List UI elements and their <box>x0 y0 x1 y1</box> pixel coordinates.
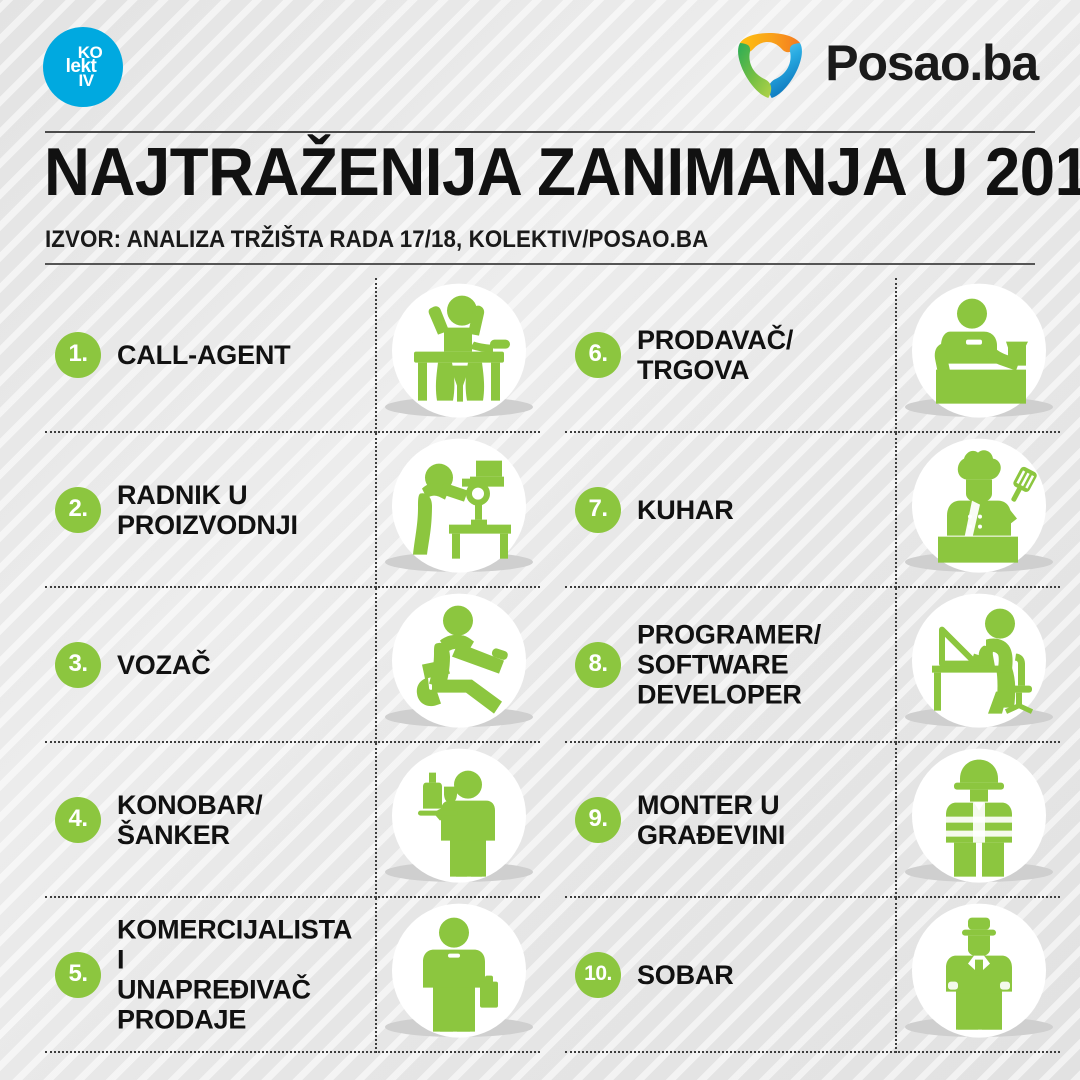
rank-badge: 2. <box>55 487 101 533</box>
occupation-icon-slot <box>895 433 1060 588</box>
occupation-icon-slot <box>895 588 1060 743</box>
occupation-label-line: PROIZVODNJI <box>117 510 337 540</box>
occupation-label-line: CALL-AGENT <box>117 339 337 369</box>
driver-icon <box>392 593 526 727</box>
occupation-label-line: ŠANKER <box>117 820 337 850</box>
occupation-icon-slot <box>375 433 540 588</box>
posao-wordmark: Posao.ba <box>825 34 1038 92</box>
occupation-icon-slot <box>375 898 540 1053</box>
occupation-label-line: TRGOVA <box>637 355 857 385</box>
occupation-label: KUHAR <box>637 494 857 524</box>
occupation-icon-slot <box>375 588 540 743</box>
occupation-icon-slot <box>375 743 540 898</box>
occupation-label-line: DEVELOPER <box>637 680 857 710</box>
kolektiv-logo: KO lekt IV <box>43 27 123 107</box>
rank-badge: 5. <box>55 952 101 998</box>
rank-badge: 10. <box>575 952 621 998</box>
occupation-label-line: VOZAČ <box>117 649 337 679</box>
occupation-icon-slot <box>375 278 540 433</box>
occupation-item[interactable]: 3.VOZAČ <box>45 588 540 743</box>
occupation-label: MONTER UGRAĐEVINI <box>637 789 857 849</box>
header: KO lekt IV <box>0 0 1080 120</box>
occupation-label-line: PRODAJE <box>117 1005 337 1035</box>
occupation-label-line: GRAĐEVINI <box>637 820 857 850</box>
occupation-icon-slot <box>895 278 1060 433</box>
occupation-icon-slot <box>895 898 1060 1053</box>
occupation-item[interactable]: 2.RADNIK UPROIZVODNJI <box>45 433 540 588</box>
occupation-label-line: SOBAR <box>637 959 857 989</box>
page-title: NAJTRAŽENIJA ZANIMANJA U 2018. <box>44 139 979 206</box>
occupation-item[interactable]: 7.KUHAR <box>565 433 1060 588</box>
occupation-item[interactable]: 5.KOMERCIJALISTA IUNAPREĐIVAČPRODAJE <box>45 898 540 1053</box>
infographic-page: KO lekt IV <box>0 0 1080 1080</box>
occupation-label: CALL-AGENT <box>117 339 337 369</box>
occupation-label: KONOBAR/ŠANKER <box>117 789 337 849</box>
occupation-icon-slot <box>895 743 1060 898</box>
occupation-label-line: PROGRAMER/ <box>637 619 857 649</box>
occupation-label-line: KUHAR <box>637 494 857 524</box>
rank-badge: 7. <box>575 487 621 533</box>
occupation-column-right: 6.PRODAVAČ/TRGOVA 7.KUHAR <box>565 278 1060 1078</box>
call-agent-icon <box>392 283 526 417</box>
posao-swirl-icon <box>727 23 813 103</box>
rank-badge: 3. <box>55 642 101 688</box>
occupation-columns: 1.CALL-AGENT 2.RADNIK UPROIZVODNJI <box>0 278 1080 1078</box>
occupation-label: PRODAVAČ/TRGOVA <box>637 324 857 384</box>
rank-badge: 6. <box>575 332 621 378</box>
occupation-item[interactable]: 8.PROGRAMER/SOFTWAREDEVELOPER <box>565 588 1060 743</box>
occupation-label-line: KONOBAR/ <box>117 789 337 819</box>
occupation-item[interactable]: 6.PRODAVAČ/TRGOVA <box>565 278 1060 433</box>
posao-logo: Posao.ba <box>727 24 1038 102</box>
rank-badge: 9. <box>575 797 621 843</box>
occupation-label-line: RADNIK U <box>117 479 337 509</box>
occupation-label-line: KOMERCIJALISTA I <box>117 914 337 974</box>
programmer-icon <box>912 593 1046 727</box>
salesperson-icon <box>392 903 526 1037</box>
room-attendant-icon <box>912 903 1046 1037</box>
occupation-label-line: SOFTWARE <box>637 649 857 679</box>
production-worker-icon <box>392 438 526 572</box>
occupation-item[interactable]: 4.KONOBAR/ŠANKER <box>45 743 540 898</box>
occupation-label: VOZAČ <box>117 649 337 679</box>
occupation-item[interactable]: 9.MONTER UGRAĐEVINI <box>565 743 1060 898</box>
rank-badge: 8. <box>575 642 621 688</box>
occupation-item[interactable]: 10.SOBAR <box>565 898 1060 1053</box>
cook-icon <box>912 438 1046 572</box>
kolektiv-logo-line3: IV <box>78 74 93 88</box>
occupation-label: SOBAR <box>637 959 857 989</box>
occupation-label: PROGRAMER/SOFTWAREDEVELOPER <box>637 619 857 710</box>
shop-assistant-icon <box>912 283 1046 417</box>
occupation-column-left: 1.CALL-AGENT 2.RADNIK UPROIZVODNJI <box>45 278 540 1078</box>
page-subtitle: IZVOR: ANALIZA TRŽIŠTA RADA 17/18, KOLEK… <box>45 226 708 254</box>
construction-fitter-icon <box>912 748 1046 882</box>
occupation-item[interactable]: 1.CALL-AGENT <box>45 278 540 433</box>
rank-badge: 4. <box>55 797 101 843</box>
occupation-label: RADNIK UPROIZVODNJI <box>117 479 337 539</box>
occupation-label-line: PRODAVAČ/ <box>637 324 857 354</box>
occupation-label-line: MONTER U <box>637 789 857 819</box>
rank-badge: 1. <box>55 332 101 378</box>
waiter-icon <box>392 748 526 882</box>
occupation-label: KOMERCIJALISTA IUNAPREĐIVAČPRODAJE <box>117 914 337 1035</box>
occupation-label-line: UNAPREĐIVAČ <box>117 975 337 1005</box>
title-rule-bottom <box>45 263 1035 265</box>
title-rule-top <box>45 131 1035 133</box>
